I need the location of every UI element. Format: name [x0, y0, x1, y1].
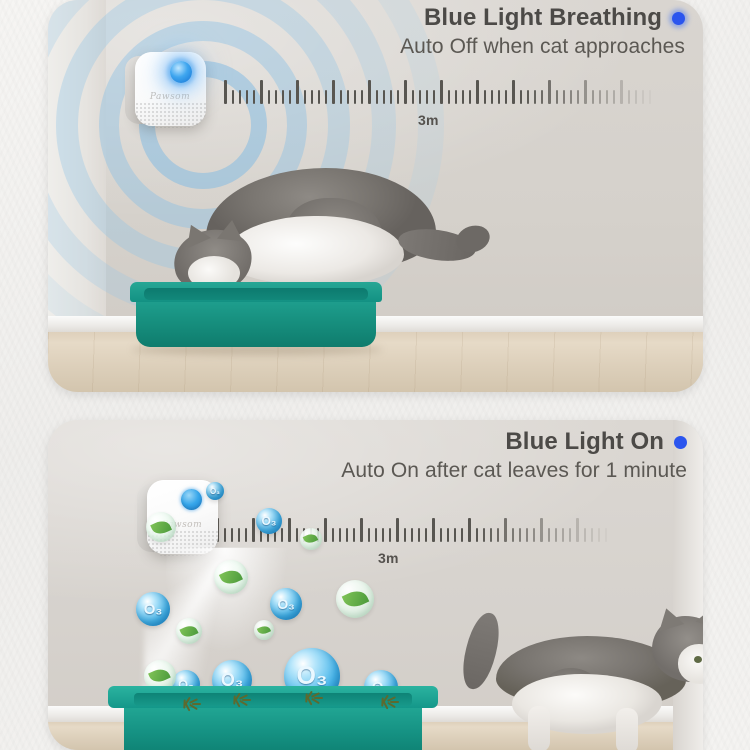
ruler-tick-minor — [628, 90, 630, 104]
panel-title-text: Blue Light Breathing — [424, 4, 662, 32]
ruler-tick-minor — [563, 90, 565, 104]
ruler-tick-minor — [353, 528, 355, 542]
leaf-bubble — [336, 580, 374, 618]
ruler-tick-minor — [556, 90, 558, 104]
ruler-tick-minor — [642, 90, 644, 104]
ruler-tick-minor — [382, 528, 384, 542]
ruler-tick-major — [476, 80, 479, 104]
panel-subtitle: Auto On after cat leaves for 1 minute — [341, 459, 687, 483]
ruler-tick-minor — [592, 90, 594, 104]
panel-title-text: Blue Light On — [505, 428, 664, 456]
leaf-bubble — [300, 528, 322, 550]
ruler-tick-major — [440, 80, 443, 104]
ruler-label: 3m — [418, 112, 439, 128]
ruler-tick-major — [468, 518, 471, 542]
ruler-tick-minor — [448, 90, 450, 104]
ruler-tick-minor — [318, 90, 320, 104]
ruler-tick-minor — [304, 90, 306, 104]
ruler-tick-minor — [534, 90, 536, 104]
ruler-tick-minor — [555, 528, 557, 542]
ruler-tick-minor — [325, 90, 327, 104]
ruler-tick-minor — [361, 90, 363, 104]
panel-title: Blue Light On — [341, 428, 687, 456]
ruler-tick-major — [432, 518, 435, 542]
odor-eliminator-device[interactable]: Pawsom — [132, 52, 206, 128]
ruler-tick-minor — [418, 528, 420, 542]
ruler-tick-minor — [498, 90, 500, 104]
ruler-tick-minor — [635, 90, 637, 104]
ruler-tick-minor — [527, 90, 529, 104]
litter-box-top — [130, 282, 382, 350]
ruler-tick-minor — [433, 90, 435, 104]
ruler-tick-minor — [245, 528, 247, 542]
ruler-tick-major — [404, 80, 407, 104]
ruler-tick-major — [324, 518, 327, 542]
ruler-label: 3m — [378, 550, 399, 566]
panel-title: Blue Light Breathing — [400, 4, 685, 32]
device-led-breathing-icon[interactable] — [170, 61, 192, 83]
ruler-tick-minor — [484, 90, 486, 104]
ruler-tick-minor — [376, 90, 378, 104]
ruler-tick-major — [360, 518, 363, 542]
heading-breathing: Blue Light Breathing Auto Off when cat a… — [400, 4, 685, 59]
ruler-tick-minor — [339, 528, 341, 542]
leaf-icon — [257, 624, 271, 637]
ruler-tick-minor — [440, 528, 442, 542]
ruler-tick-minor — [412, 90, 414, 104]
ruler-tick-major — [332, 80, 335, 104]
ruler-tick-minor — [491, 90, 493, 104]
ruler-tick-minor — [232, 90, 234, 104]
leaf-icon — [148, 666, 171, 686]
ruler-tick-minor — [253, 90, 255, 104]
panel-blue-light-on: Blue Light On Auto On after cat leaves f… — [48, 420, 703, 750]
leaf-bubble — [176, 618, 202, 644]
ruler-tick-minor — [239, 90, 241, 104]
ruler-tick-minor — [476, 528, 478, 542]
ruler-tick-minor — [282, 90, 284, 104]
ruler-tick-minor — [606, 90, 608, 104]
ruler-tick-minor — [332, 528, 334, 542]
ruler-tick-minor — [404, 528, 406, 542]
ruler-tick-major — [368, 80, 371, 104]
leaf-icon — [303, 532, 319, 546]
ruler-tick-minor — [368, 528, 370, 542]
ruler-tick-major — [548, 80, 551, 104]
ruler-tick-minor — [281, 528, 283, 542]
ruler-tick-minor — [411, 528, 413, 542]
leaf-icon — [341, 587, 368, 611]
ruler-tick-minor — [541, 90, 543, 104]
leaf-icon — [219, 566, 244, 588]
ruler-tick-minor — [599, 90, 601, 104]
ruler-tick-minor — [238, 528, 240, 542]
leaf-icon — [180, 623, 199, 639]
ozone-bubble: O₃ — [256, 508, 282, 534]
ruler-tick-minor — [246, 90, 248, 104]
ruler-tick-minor — [526, 528, 528, 542]
ruler-tick-minor — [505, 90, 507, 104]
ruler-tick-minor — [455, 90, 457, 104]
blue-dot-icon — [672, 12, 685, 25]
bacteria-cluster-icon — [230, 694, 250, 706]
device-grille — [135, 102, 206, 128]
ruler-tick-major — [620, 80, 623, 104]
ruler-tick-minor — [296, 528, 298, 542]
ruler-tick-major — [584, 80, 587, 104]
ruler-tick-minor — [426, 90, 428, 104]
ruler-tick-major — [576, 518, 579, 542]
bacteria-cluster-icon — [378, 696, 398, 708]
leaf-icon — [150, 517, 172, 536]
ruler-tick-minor — [483, 528, 485, 542]
device-led-on-icon[interactable] — [181, 489, 202, 510]
ruler-tick-minor — [613, 90, 615, 104]
distance-ruler — [224, 78, 694, 104]
ruler-tick-major — [296, 80, 299, 104]
ruler-tick-minor — [570, 90, 572, 104]
ruler-tick-minor — [562, 528, 564, 542]
ozone-bubble: O₃ — [206, 482, 224, 500]
ruler-tick-minor — [375, 528, 377, 542]
ruler-tick-major — [504, 518, 507, 542]
cat-walking-away — [466, 602, 703, 750]
panel-blue-light-breathing: Pawsom Blue Light Breathing Auto Off whe… — [48, 0, 703, 392]
ruler-tick-minor — [605, 528, 607, 542]
ruler-tick-minor — [598, 528, 600, 542]
ruler-tick-minor — [231, 528, 233, 542]
leaf-bubble — [254, 620, 274, 640]
ruler-tick-minor — [469, 90, 471, 104]
ruler-tick-minor — [354, 90, 356, 104]
ruler-tick-minor — [397, 90, 399, 104]
blue-dot-icon — [674, 436, 687, 449]
ruler-tick-minor — [462, 90, 464, 104]
ruler-tick-minor — [548, 528, 550, 542]
panel-subtitle: Auto Off when cat approaches — [400, 35, 685, 59]
ruler-tick-major — [396, 518, 399, 542]
ruler-tick-minor — [425, 528, 427, 542]
device-logo: Pawsom — [148, 92, 192, 103]
ruler-tick-minor — [311, 90, 313, 104]
leaf-bubble — [214, 560, 248, 594]
ruler-tick-minor — [389, 528, 391, 542]
ruler-tick-minor — [268, 90, 270, 104]
ruler-tick-minor — [512, 528, 514, 542]
ruler-tick-minor — [490, 528, 492, 542]
bacteria-cluster-icon — [180, 698, 200, 710]
ruler-tick-minor — [454, 528, 456, 542]
ruler-tick-minor — [447, 528, 449, 542]
ozone-bubble: O₃ — [270, 588, 302, 620]
ruler-tick-major — [224, 80, 227, 104]
ruler-tick-minor — [649, 90, 651, 104]
leaf-bubble — [146, 512, 176, 542]
ruler-tick-minor — [419, 90, 421, 104]
bacteria-cluster-icon — [302, 692, 322, 704]
distance-ruler — [180, 516, 650, 542]
ruler-tick-minor — [383, 90, 385, 104]
ruler-tick-minor — [520, 90, 522, 104]
ozone-bubble: O₃ — [136, 592, 170, 626]
ruler-tick-major — [540, 518, 543, 542]
ruler-tick-major — [288, 518, 291, 542]
ruler-tick-minor — [569, 528, 571, 542]
ruler-tick-minor — [533, 528, 535, 542]
ruler-tick-major — [512, 80, 515, 104]
heading-on: Blue Light On Auto On after cat leaves f… — [341, 428, 687, 483]
ruler-tick-minor — [577, 90, 579, 104]
ruler-tick-minor — [224, 528, 226, 542]
ruler-tick-minor — [497, 528, 499, 542]
ruler-tick-minor — [346, 528, 348, 542]
ruler-tick-minor — [340, 90, 342, 104]
ruler-tick-minor — [591, 528, 593, 542]
ruler-tick-major — [260, 80, 263, 104]
ruler-tick-minor — [519, 528, 521, 542]
ruler-tick-minor — [584, 528, 586, 542]
ruler-tick-minor — [275, 90, 277, 104]
ruler-tick-minor — [347, 90, 349, 104]
ruler-tick-major — [252, 518, 255, 542]
ruler-tick-minor — [390, 90, 392, 104]
ruler-tick-minor — [289, 90, 291, 104]
ruler-tick-minor — [461, 528, 463, 542]
